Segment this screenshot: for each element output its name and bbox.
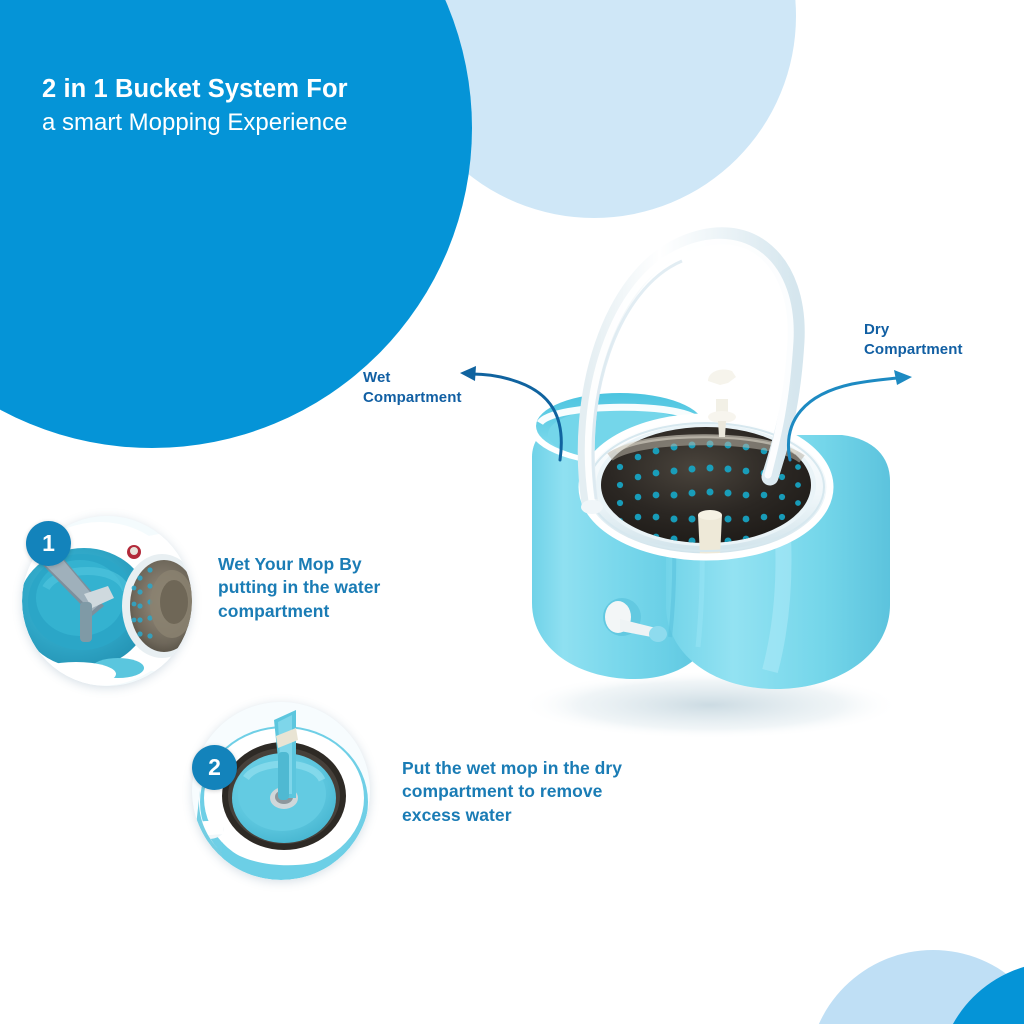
callout-wet-compartment: Wet Compartment <box>363 368 523 408</box>
callout-dry-compartment: Dry Compartment <box>864 320 1024 360</box>
step-2-text: Put the wet mop in the dry compartment t… <box>402 757 634 827</box>
callout-wet-line2: Compartment <box>363 388 523 408</box>
step-1-badge: 1 <box>26 521 71 566</box>
step-2-badge: 2 <box>192 745 237 790</box>
product-photo-spin-mop-bucket <box>470 185 940 745</box>
callout-dry-line1: Dry <box>864 320 1024 340</box>
step-2-photo <box>192 702 370 880</box>
callout-wet-line1: Wet <box>363 368 523 388</box>
step-1-text: Wet Your Mop By putting in the water com… <box>218 553 418 623</box>
promo-banner: 2 in 1 Bucket System For a smart Mopping… <box>0 0 1024 1024</box>
page-title: 2 in 1 Bucket System For <box>42 74 462 105</box>
header-text-block: 2 in 1 Bucket System For a smart Mopping… <box>42 74 462 138</box>
page-subtitle: a smart Mopping Experience <box>42 107 462 138</box>
callout-dry-line2: Compartment <box>864 340 1024 360</box>
